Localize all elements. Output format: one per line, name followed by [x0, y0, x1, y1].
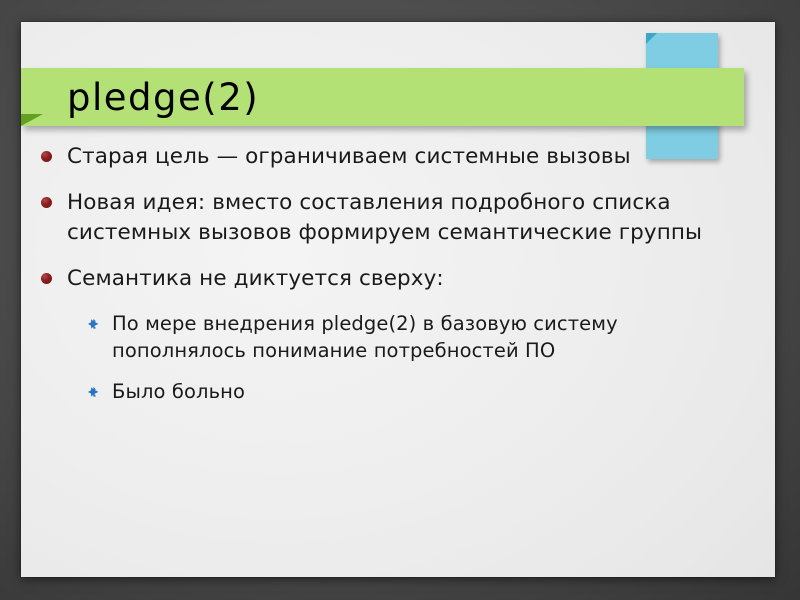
- bullet-item: Новая идея: вместо составления подробног…: [41, 188, 741, 248]
- accent-bar-fold-icon: [646, 33, 657, 44]
- sub-bullet-text: Было больно: [112, 378, 245, 405]
- bullet-marker-icon: [41, 273, 52, 284]
- bullet-marker-icon: [41, 151, 52, 162]
- bullet-text: Семантика не диктуется сверху:: [67, 264, 444, 294]
- sub-bullet-text: По мере внедрения pledge(2) в базовую си…: [112, 310, 741, 364]
- arrow-bullet-icon: [87, 386, 99, 398]
- sub-bullet-item: Было больно: [87, 378, 741, 405]
- arrow-bullet-icon: [87, 318, 99, 330]
- slide-canvas: pledge(2) Старая цель — ограничиваем сис…: [21, 22, 775, 577]
- slide-body: Старая цель — ограничиваем системные выз…: [41, 142, 741, 419]
- bullet-item: Старая цель — ограничиваем системные выз…: [41, 142, 741, 172]
- slide-title: pledge(2): [67, 79, 259, 116]
- bullet-item: Семантика не диктуется сверху:: [41, 264, 741, 294]
- presentation-backdrop: pledge(2) Старая цель — ограничиваем сис…: [0, 0, 800, 600]
- bullet-text: Старая цель — ограничиваем системные выз…: [67, 142, 631, 172]
- bullet-marker-icon: [41, 197, 52, 208]
- title-banner: pledge(2): [21, 68, 744, 126]
- sub-bullet-list: По мере внедрения pledge(2) в базовую си…: [41, 310, 741, 405]
- bullet-text: Новая идея: вместо составления подробног…: [67, 188, 741, 248]
- banner-fold-icon: [21, 114, 43, 138]
- sub-bullet-item: По мере внедрения pledge(2) в базовую си…: [87, 310, 741, 364]
